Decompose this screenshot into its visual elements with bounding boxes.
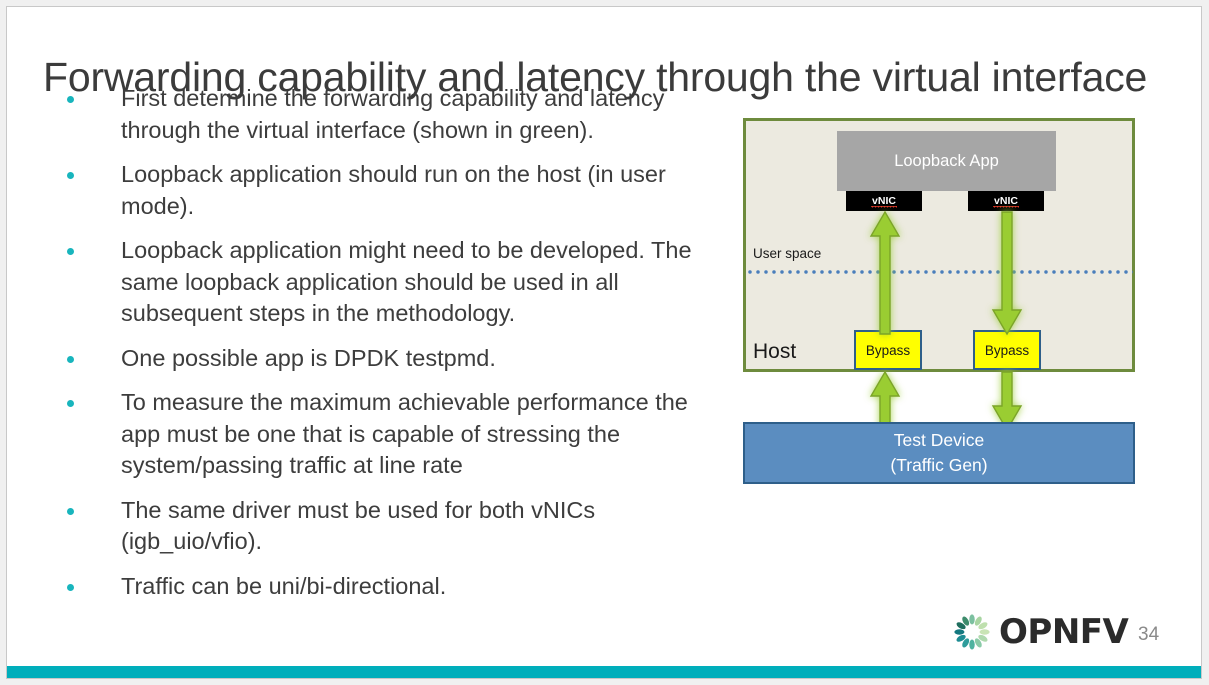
opnfv-logo: OPNFV bbox=[951, 611, 1128, 653]
bullet-dot-icon bbox=[67, 96, 74, 103]
bullet-list: First determine the forwarding capabilit… bbox=[67, 83, 727, 615]
page-number: 34 bbox=[1138, 624, 1159, 646]
list-item: To measure the maximum achievable perfor… bbox=[67, 387, 727, 482]
arrow-up-icon-left-inner bbox=[869, 210, 901, 336]
bullet-text: Traffic can be uni/bi-directional. bbox=[121, 571, 727, 603]
bullet-text: To measure the maximum achievable perfor… bbox=[121, 387, 727, 482]
bullet-text: Loopback application might need to be de… bbox=[121, 235, 727, 330]
list-item: Traffic can be uni/bi-directional. bbox=[67, 571, 727, 603]
bullet-dot-icon bbox=[67, 400, 74, 407]
vnic-label: vNIC bbox=[994, 195, 1018, 208]
list-item: Loopback application should run on the h… bbox=[67, 159, 727, 222]
bypass-box-right: Bypass bbox=[973, 330, 1041, 370]
bypass-label: Bypass bbox=[985, 343, 1029, 358]
bypass-label: Bypass bbox=[866, 343, 910, 358]
test-device-box: Test Device (Traffic Gen) bbox=[743, 422, 1135, 484]
user-space-label: User space bbox=[753, 246, 821, 261]
opnfv-wordmark: OPNFV bbox=[999, 615, 1128, 649]
slide-canvas: Forwarding capability and latency throug… bbox=[6, 6, 1202, 679]
test-device-line1: Test Device bbox=[894, 428, 984, 453]
list-item: One possible app is DPDK testpmd. bbox=[67, 343, 727, 375]
bullet-text: One possible app is DPDK testpmd. bbox=[121, 343, 727, 375]
bullet-dot-icon bbox=[67, 248, 74, 255]
arrow-down-icon-right-inner bbox=[991, 210, 1023, 336]
vnic-box-left: vNIC bbox=[846, 191, 922, 211]
list-item: Loopback application might need to be de… bbox=[67, 235, 727, 330]
loopback-app-box: Loopback App bbox=[837, 131, 1056, 191]
loopback-app-label: Loopback App bbox=[894, 152, 999, 171]
bypass-box-left: Bypass bbox=[854, 330, 922, 370]
bullet-dot-icon bbox=[67, 172, 74, 179]
vnic-box-right: vNIC bbox=[968, 191, 1044, 211]
bottom-accent-bar bbox=[7, 666, 1201, 679]
bullet-dot-icon bbox=[67, 508, 74, 515]
user-kernel-divider bbox=[746, 270, 1133, 274]
test-device-line2: (Traffic Gen) bbox=[890, 453, 987, 478]
bullet-text: Loopback application should run on the h… bbox=[121, 159, 727, 222]
opnfv-petal-burst-icon bbox=[951, 611, 993, 653]
bullet-text: First determine the forwarding capabilit… bbox=[121, 83, 727, 146]
list-item: First determine the forwarding capabilit… bbox=[67, 83, 727, 146]
bullet-text: The same driver must be used for both vN… bbox=[121, 495, 727, 558]
list-item: The same driver must be used for both vN… bbox=[67, 495, 727, 558]
vnic-label: vNIC bbox=[872, 195, 896, 208]
bullet-dot-icon bbox=[67, 356, 74, 363]
bullet-dot-icon bbox=[67, 584, 74, 591]
host-label: Host bbox=[753, 340, 796, 364]
